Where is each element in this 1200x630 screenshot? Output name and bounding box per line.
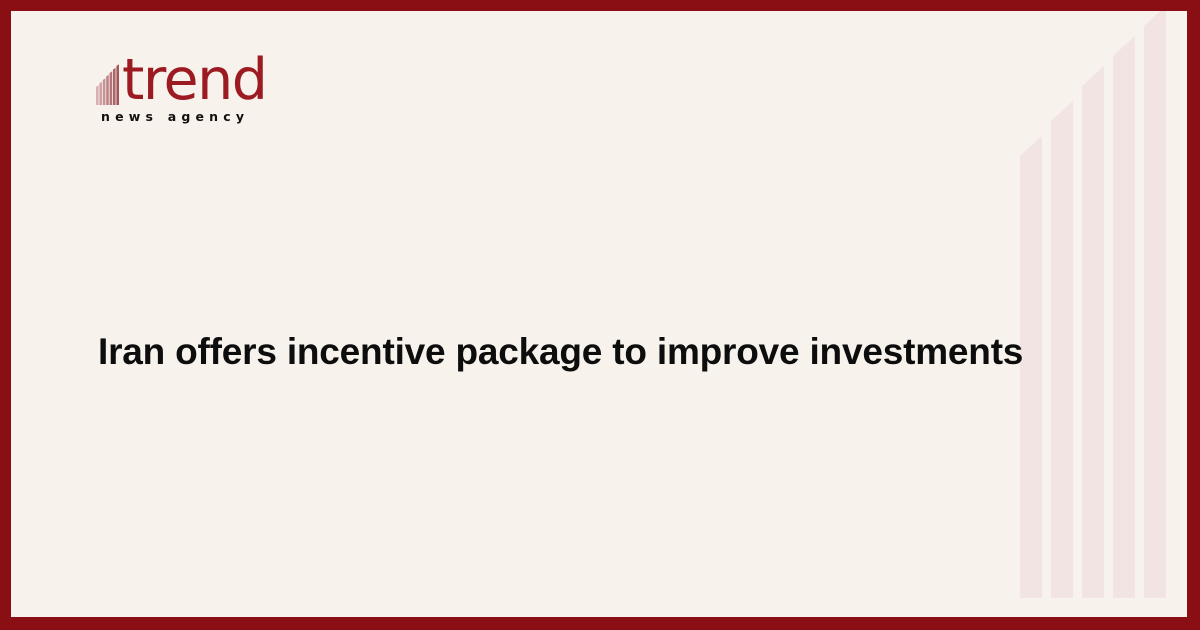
decor-bar-4	[1113, 36, 1135, 598]
decor-bar-5	[1144, 11, 1166, 598]
logo-wordmark-row: trend	[96, 44, 346, 106]
ascending-bars-icon	[96, 57, 122, 105]
article-headline: Iran offers incentive package to improve…	[98, 328, 1078, 376]
ascending-bar-chart-decoration	[1006, 11, 1181, 598]
decor-bar-3	[1082, 66, 1104, 598]
card-canvas: trend news agency Iran offers incentive …	[11, 11, 1187, 617]
logo-wordmark-text: trend	[122, 54, 266, 106]
share-card: trend news agency Iran offers incentive …	[0, 0, 1200, 630]
trend-news-agency-logo[interactable]: trend news agency	[96, 44, 346, 144]
